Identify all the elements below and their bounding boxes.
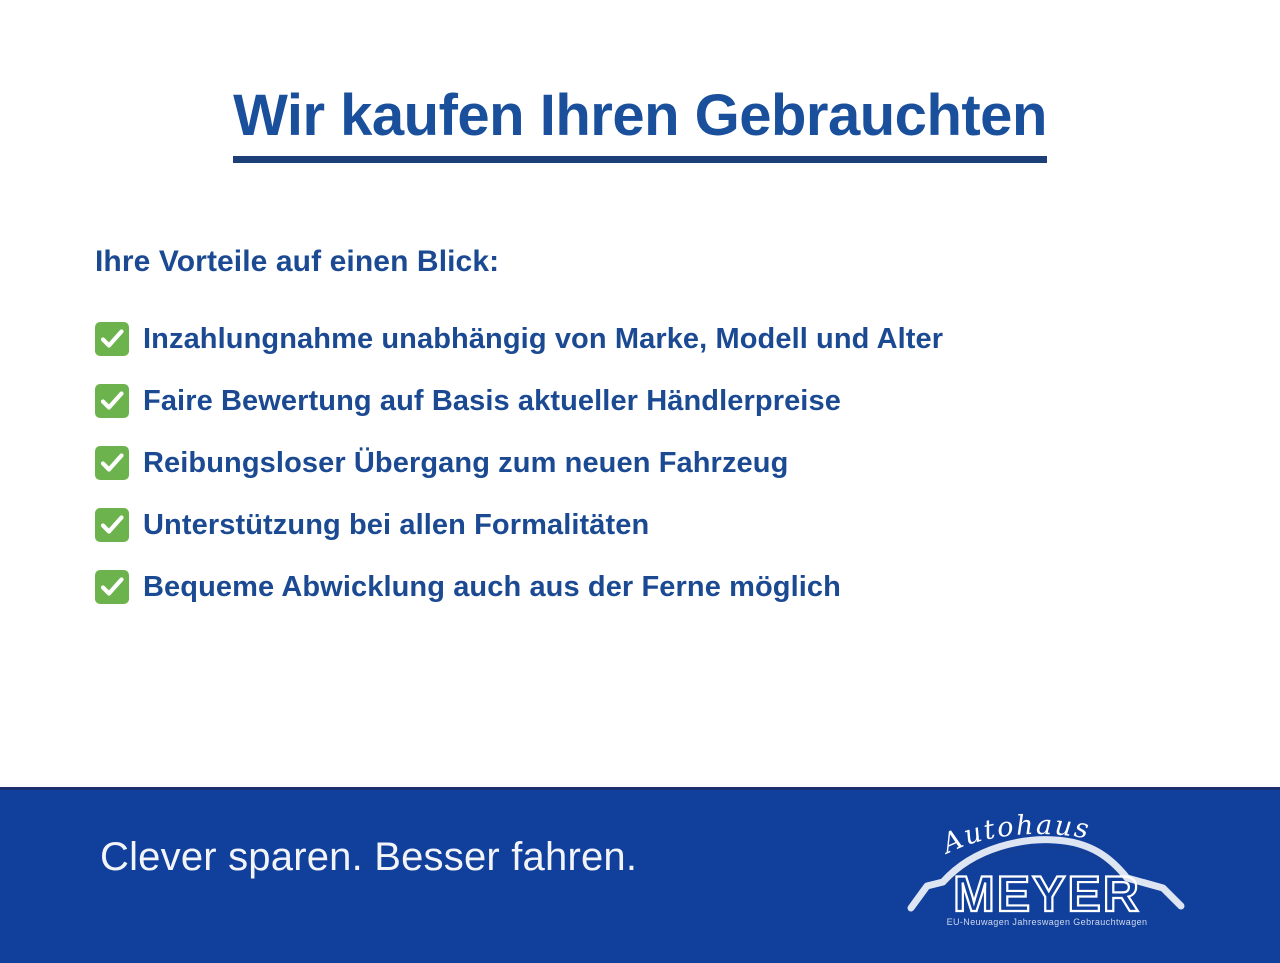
- logo-script-text: Autohaus: [935, 812, 1093, 861]
- list-item: Faire Bewertung auf Basis aktueller Händ…: [95, 370, 1215, 432]
- page-title: Wir kaufen Ihren Gebrauchten: [233, 86, 1047, 163]
- check-square-icon: [95, 446, 129, 480]
- subtitle: Ihre Vorteile auf einen Blick:: [95, 245, 499, 279]
- list-item-label: Faire Bewertung auf Basis aktueller Händ…: [143, 387, 841, 416]
- list-item: Inzahlungnahme unabhängig von Marke, Mod…: [95, 308, 1215, 370]
- list-item-label: Reibungsloser Übergang zum neuen Fahrzeu…: [143, 449, 788, 478]
- list-item: Bequeme Abwicklung auch aus der Ferne mö…: [95, 556, 1215, 618]
- footer-band: Clever sparen. Besser fahren. Autohaus M…: [0, 787, 1280, 963]
- list-item: Unterstützung bei allen Formalitäten: [95, 494, 1215, 556]
- check-square-icon: [95, 570, 129, 604]
- list-item-label: Unterstützung bei allen Formalitäten: [143, 511, 649, 540]
- check-square-icon: [95, 508, 129, 542]
- logo-subline: EU-Neuwagen Jahreswagen Gebrauchtwagen: [947, 917, 1148, 927]
- page-title-container: Wir kaufen Ihren Gebrauchten: [0, 86, 1280, 163]
- list-item-label: Inzahlungnahme unabhängig von Marke, Mod…: [143, 325, 943, 354]
- check-square-icon: [95, 322, 129, 356]
- logo-wordmark: MEYER: [953, 866, 1141, 922]
- benefits-list: Inzahlungnahme unabhängig von Marke, Mod…: [95, 308, 1215, 618]
- list-item: Reibungsloser Übergang zum neuen Fahrzeu…: [95, 432, 1215, 494]
- dealer-logo: Autohaus MEYER EU-Neuwagen Jahreswagen G…: [905, 812, 1190, 932]
- list-item-label: Bequeme Abwicklung auch aus der Ferne mö…: [143, 573, 841, 602]
- check-square-icon: [95, 384, 129, 418]
- slide: Wir kaufen Ihren Gebrauchten Ihre Vortei…: [0, 0, 1280, 960]
- footer-slogan: Clever sparen. Besser fahren.: [100, 835, 637, 880]
